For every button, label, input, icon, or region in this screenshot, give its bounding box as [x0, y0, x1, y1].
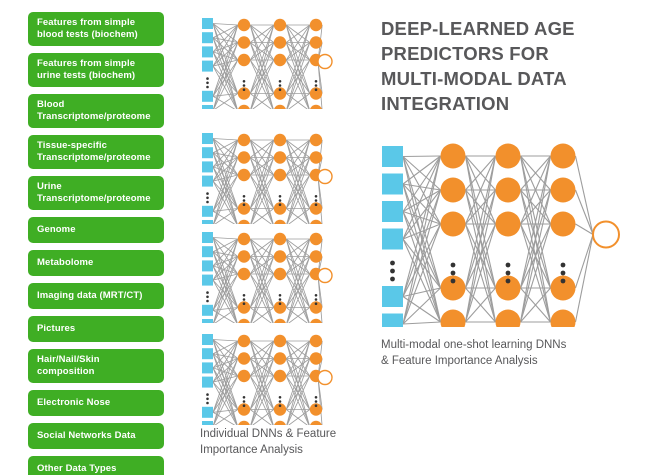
- input-node: [202, 260, 213, 271]
- hidden-node: [551, 178, 576, 203]
- chip-genome[interactable]: Genome: [28, 217, 164, 243]
- hidden-node: [238, 370, 250, 382]
- multimodal-dnn: [380, 142, 625, 327]
- chip-metabolome[interactable]: Metabolome: [28, 250, 164, 276]
- hidden-node: [310, 233, 322, 245]
- input-ellipsis-dot: [206, 201, 209, 204]
- neural-network-svg: [200, 129, 340, 224]
- hidden-node: [238, 220, 250, 224]
- hidden-ellipsis-dot: [243, 80, 246, 83]
- hidden-node: [274, 319, 286, 323]
- chip-label: BloodTranscriptome/proteome: [37, 99, 151, 123]
- input-node: [382, 286, 403, 307]
- hidden-node: [496, 310, 521, 328]
- input-ellipsis-dot: [390, 269, 395, 274]
- hidden-node: [441, 212, 466, 237]
- hidden-ellipsis-dot: [315, 80, 318, 83]
- input-ellipsis-dot: [206, 393, 209, 396]
- hidden-ellipsis-dot: [315, 404, 318, 407]
- hidden-ellipsis-dot: [243, 199, 246, 202]
- chip-blood-transcriptome[interactable]: BloodTranscriptome/proteome: [28, 94, 164, 128]
- hidden-ellipsis-dot: [279, 88, 282, 91]
- hidden-node: [274, 169, 286, 181]
- edge: [318, 177, 322, 225]
- input-layer: [202, 334, 213, 425]
- chip-urine-transcriptome[interactable]: UrineTranscriptome/proteome: [28, 176, 164, 210]
- hidden-node: [310, 250, 322, 262]
- hidden-node: [496, 144, 521, 169]
- input-node: [202, 206, 213, 217]
- hidden-layer-1: [238, 233, 250, 323]
- edge: [403, 156, 441, 157]
- hidden-ellipsis-dot: [451, 271, 456, 276]
- hidden-node: [274, 250, 286, 262]
- chip-label: UrineTranscriptome/proteome: [37, 181, 151, 205]
- hidden-ellipsis-dot: [243, 400, 246, 403]
- chip-label: Hair/Nail/Skincomposition: [37, 354, 100, 378]
- input-layer: [202, 18, 213, 109]
- hidden-node: [274, 352, 286, 364]
- individual-dnn-caption: Individual DNNs & FeatureImportance Anal…: [200, 426, 375, 458]
- datatype-chip-list: Features from simpleblood tests (biochem…: [28, 12, 164, 475]
- input-node: [382, 314, 403, 328]
- chip-blood-tests[interactable]: Features from simpleblood tests (biochem…: [28, 12, 164, 46]
- neural-network-svg: [380, 142, 625, 327]
- caption-line: & Feature Importance Analysis: [381, 353, 631, 369]
- chip-label: Metabolome: [37, 257, 93, 269]
- caption-line: Importance Analysis: [200, 442, 375, 458]
- chip-electronic-nose[interactable]: Electronic Nose: [28, 390, 164, 416]
- hidden-ellipsis-dot: [279, 199, 282, 202]
- page-title-line: INTEGRATION: [381, 91, 631, 116]
- chip-label: Tissue-specificTranscriptome/proteome: [37, 140, 151, 164]
- hidden-ellipsis-dot: [243, 302, 246, 305]
- hidden-node: [238, 134, 250, 146]
- input-node: [202, 133, 213, 144]
- individual-dnn-4: [200, 330, 340, 425]
- edge: [318, 378, 322, 426]
- hidden-ellipsis-dot: [279, 195, 282, 198]
- input-node: [202, 275, 213, 286]
- edge: [318, 276, 322, 324]
- chip-tissue-transcriptome[interactable]: Tissue-specificTranscriptome/proteome: [28, 135, 164, 169]
- edge: [318, 62, 322, 110]
- hidden-ellipsis-dot: [315, 396, 318, 399]
- hidden-ellipsis-dot: [243, 396, 246, 399]
- hidden-ellipsis-dot: [506, 263, 511, 268]
- hidden-node: [310, 220, 322, 224]
- input-ellipsis-dot: [206, 296, 209, 299]
- individual-dnn-1: [200, 14, 340, 109]
- output-node: [318, 269, 332, 283]
- hidden-ellipsis-dot: [279, 203, 282, 206]
- input-ellipsis-dot: [390, 261, 395, 266]
- hidden-node: [238, 233, 250, 245]
- hidden-node: [496, 178, 521, 203]
- input-node: [202, 161, 213, 172]
- input-node: [202, 334, 213, 345]
- hidden-node: [238, 319, 250, 323]
- hidden-ellipsis-dot: [315, 203, 318, 206]
- input-ellipsis-dot: [206, 82, 209, 85]
- caption-line: Multi-modal one-shot learning DNNs: [381, 337, 631, 353]
- input-node: [382, 174, 403, 195]
- hidden-node: [238, 352, 250, 364]
- input-ellipsis-dot: [206, 197, 209, 200]
- hidden-node: [441, 144, 466, 169]
- chip-imaging-data[interactable]: Imaging data (MRT/CT): [28, 283, 164, 309]
- input-node: [202, 46, 213, 57]
- input-ellipsis-dot: [206, 300, 209, 303]
- hidden-node: [310, 151, 322, 163]
- hidden-node: [310, 105, 322, 109]
- page-title-line: DEEP-LEARNED AGE: [381, 16, 631, 41]
- neural-network-svg: [200, 14, 340, 109]
- hidden-node: [274, 134, 286, 146]
- chip-label: Genome: [37, 224, 76, 236]
- input-node: [202, 91, 213, 102]
- hidden-layer-2: [274, 19, 286, 109]
- output-node: [593, 222, 619, 248]
- edge: [213, 340, 238, 342]
- input-ellipsis-dot: [206, 398, 209, 401]
- network-edges: [213, 139, 322, 225]
- hidden-layer-2: [274, 134, 286, 224]
- hidden-node: [310, 352, 322, 364]
- page-title-line: PREDICTORS FOR: [381, 41, 631, 66]
- hidden-node: [238, 335, 250, 347]
- chip-other-data-types[interactable]: Other Data Types: [28, 456, 164, 475]
- input-node: [202, 18, 213, 29]
- hidden-ellipsis-dot: [243, 88, 246, 91]
- input-node: [382, 229, 403, 250]
- output-node: [318, 170, 332, 184]
- input-node: [202, 377, 213, 388]
- hidden-node: [274, 105, 286, 109]
- hidden-ellipsis-dot: [279, 84, 282, 87]
- neural-network-svg: [200, 330, 340, 425]
- hidden-ellipsis-dot: [561, 263, 566, 268]
- hidden-node: [238, 151, 250, 163]
- hidden-node: [310, 19, 322, 31]
- chip-label: Imaging data (MRT/CT): [37, 290, 143, 302]
- input-ellipsis-dot: [206, 77, 209, 80]
- hidden-ellipsis-dot: [279, 396, 282, 399]
- input-node: [202, 407, 213, 418]
- hidden-node: [238, 421, 250, 425]
- hidden-ellipsis-dot: [315, 199, 318, 202]
- hidden-node: [310, 421, 322, 425]
- input-ellipsis-dot: [206, 86, 209, 89]
- hidden-node: [238, 105, 250, 109]
- input-node: [202, 176, 213, 187]
- chip-label: Other Data Types: [37, 463, 117, 475]
- chip-label: Features from simpleurine tests (biochem…: [37, 58, 135, 82]
- input-node: [202, 220, 213, 224]
- input-ellipsis-dot: [206, 291, 209, 294]
- input-node: [202, 348, 213, 359]
- hidden-ellipsis-dot: [315, 88, 318, 91]
- hidden-node: [238, 250, 250, 262]
- network-edges: [213, 24, 322, 110]
- hidden-node: [274, 220, 286, 224]
- hidden-node: [274, 36, 286, 48]
- hidden-node: [274, 151, 286, 163]
- chip-label: Features from simpleblood tests (biochem…: [37, 17, 138, 41]
- hidden-node: [238, 268, 250, 280]
- hidden-node: [310, 335, 322, 347]
- hidden-ellipsis-dot: [279, 294, 282, 297]
- hidden-ellipsis-dot: [451, 279, 456, 284]
- hidden-node: [274, 233, 286, 245]
- hidden-ellipsis-dot: [315, 195, 318, 198]
- input-layer: [382, 146, 403, 327]
- chip-urine-tests[interactable]: Features from simpleurine tests (biochem…: [28, 53, 164, 87]
- hidden-node: [238, 54, 250, 66]
- hidden-node: [238, 19, 250, 31]
- hidden-ellipsis-dot: [279, 80, 282, 83]
- hidden-node: [310, 134, 322, 146]
- hidden-ellipsis-dot: [506, 279, 511, 284]
- hidden-ellipsis-dot: [315, 294, 318, 297]
- hidden-ellipsis-dot: [315, 298, 318, 301]
- input-node: [202, 246, 213, 257]
- neural-network-svg: [200, 228, 340, 323]
- chip-hair-nail-skin[interactable]: Hair/Nail/Skincomposition: [28, 349, 164, 383]
- hidden-layer-2: [274, 233, 286, 323]
- input-node: [202, 362, 213, 373]
- hidden-layer-1: [441, 144, 466, 328]
- hidden-ellipsis-dot: [451, 263, 456, 268]
- hidden-node: [551, 310, 576, 328]
- chip-social-networks[interactable]: Social Networks Data: [28, 423, 164, 449]
- input-layer: [202, 232, 213, 323]
- hidden-ellipsis-dot: [279, 302, 282, 305]
- hidden-node: [441, 310, 466, 328]
- hidden-ellipsis-dot: [243, 84, 246, 87]
- hidden-layer-2: [496, 144, 521, 328]
- input-ellipsis-dot: [206, 402, 209, 405]
- hidden-ellipsis-dot: [243, 294, 246, 297]
- input-ellipsis-dot: [206, 192, 209, 195]
- input-node: [202, 305, 213, 316]
- hidden-ellipsis-dot: [279, 298, 282, 301]
- edge: [403, 322, 441, 324]
- chip-pictures[interactable]: Pictures: [28, 316, 164, 342]
- hidden-ellipsis-dot: [315, 302, 318, 305]
- hidden-node: [310, 319, 322, 323]
- hidden-node: [274, 370, 286, 382]
- hidden-ellipsis-dot: [243, 404, 246, 407]
- network-edges: [213, 238, 322, 324]
- input-node: [202, 319, 213, 323]
- hidden-ellipsis-dot: [243, 195, 246, 198]
- hidden-ellipsis-dot: [315, 84, 318, 87]
- hidden-ellipsis-dot: [243, 298, 246, 301]
- individual-dnn-3: [200, 228, 340, 323]
- output-node: [318, 55, 332, 69]
- input-node: [202, 147, 213, 158]
- hidden-ellipsis-dot: [243, 203, 246, 206]
- diagram-canvas: Features from simpleblood tests (biochem…: [0, 0, 650, 475]
- input-node: [382, 146, 403, 167]
- hidden-node: [238, 36, 250, 48]
- hidden-layer-1: [238, 19, 250, 109]
- input-ellipsis-dot: [390, 277, 395, 282]
- hidden-layer-2: [274, 335, 286, 425]
- hidden-node: [274, 19, 286, 31]
- chip-label: Social Networks Data: [37, 430, 136, 442]
- edge: [213, 24, 238, 26]
- hidden-node: [441, 178, 466, 203]
- individual-dnn-2: [200, 129, 340, 224]
- hidden-ellipsis-dot: [279, 404, 282, 407]
- hidden-node: [274, 268, 286, 280]
- edge: [213, 238, 238, 240]
- input-node: [382, 201, 403, 222]
- caption-line: Individual DNNs & Feature: [200, 426, 375, 442]
- hidden-ellipsis-dot: [279, 400, 282, 403]
- hidden-node: [310, 36, 322, 48]
- hidden-ellipsis-dot: [315, 400, 318, 403]
- input-node: [202, 232, 213, 243]
- hidden-node: [274, 421, 286, 425]
- hidden-node: [551, 144, 576, 169]
- network-edges: [213, 340, 322, 426]
- multimodal-dnn-caption: Multi-modal one-shot learning DNNs& Feat…: [381, 337, 631, 369]
- edge: [213, 139, 238, 141]
- hidden-node: [274, 335, 286, 347]
- hidden-node: [238, 169, 250, 181]
- input-layer: [202, 133, 213, 224]
- hidden-node: [496, 212, 521, 237]
- output-node: [318, 371, 332, 385]
- hidden-layer-3: [551, 144, 576, 328]
- input-node: [202, 32, 213, 43]
- input-node: [202, 421, 213, 425]
- input-node: [202, 105, 213, 109]
- chip-label: Pictures: [37, 323, 75, 335]
- hidden-node: [274, 54, 286, 66]
- hidden-ellipsis-dot: [561, 271, 566, 276]
- hidden-layer-1: [238, 134, 250, 224]
- chip-label: Electronic Nose: [37, 397, 110, 409]
- page-title-line: MULTI-MODAL DATA: [381, 66, 631, 91]
- page-title: DEEP-LEARNED AGEPREDICTORS FORMULTI-MODA…: [381, 16, 631, 116]
- hidden-ellipsis-dot: [561, 279, 566, 284]
- hidden-layer-1: [238, 335, 250, 425]
- hidden-node: [551, 212, 576, 237]
- hidden-ellipsis-dot: [506, 271, 511, 276]
- input-node: [202, 61, 213, 72]
